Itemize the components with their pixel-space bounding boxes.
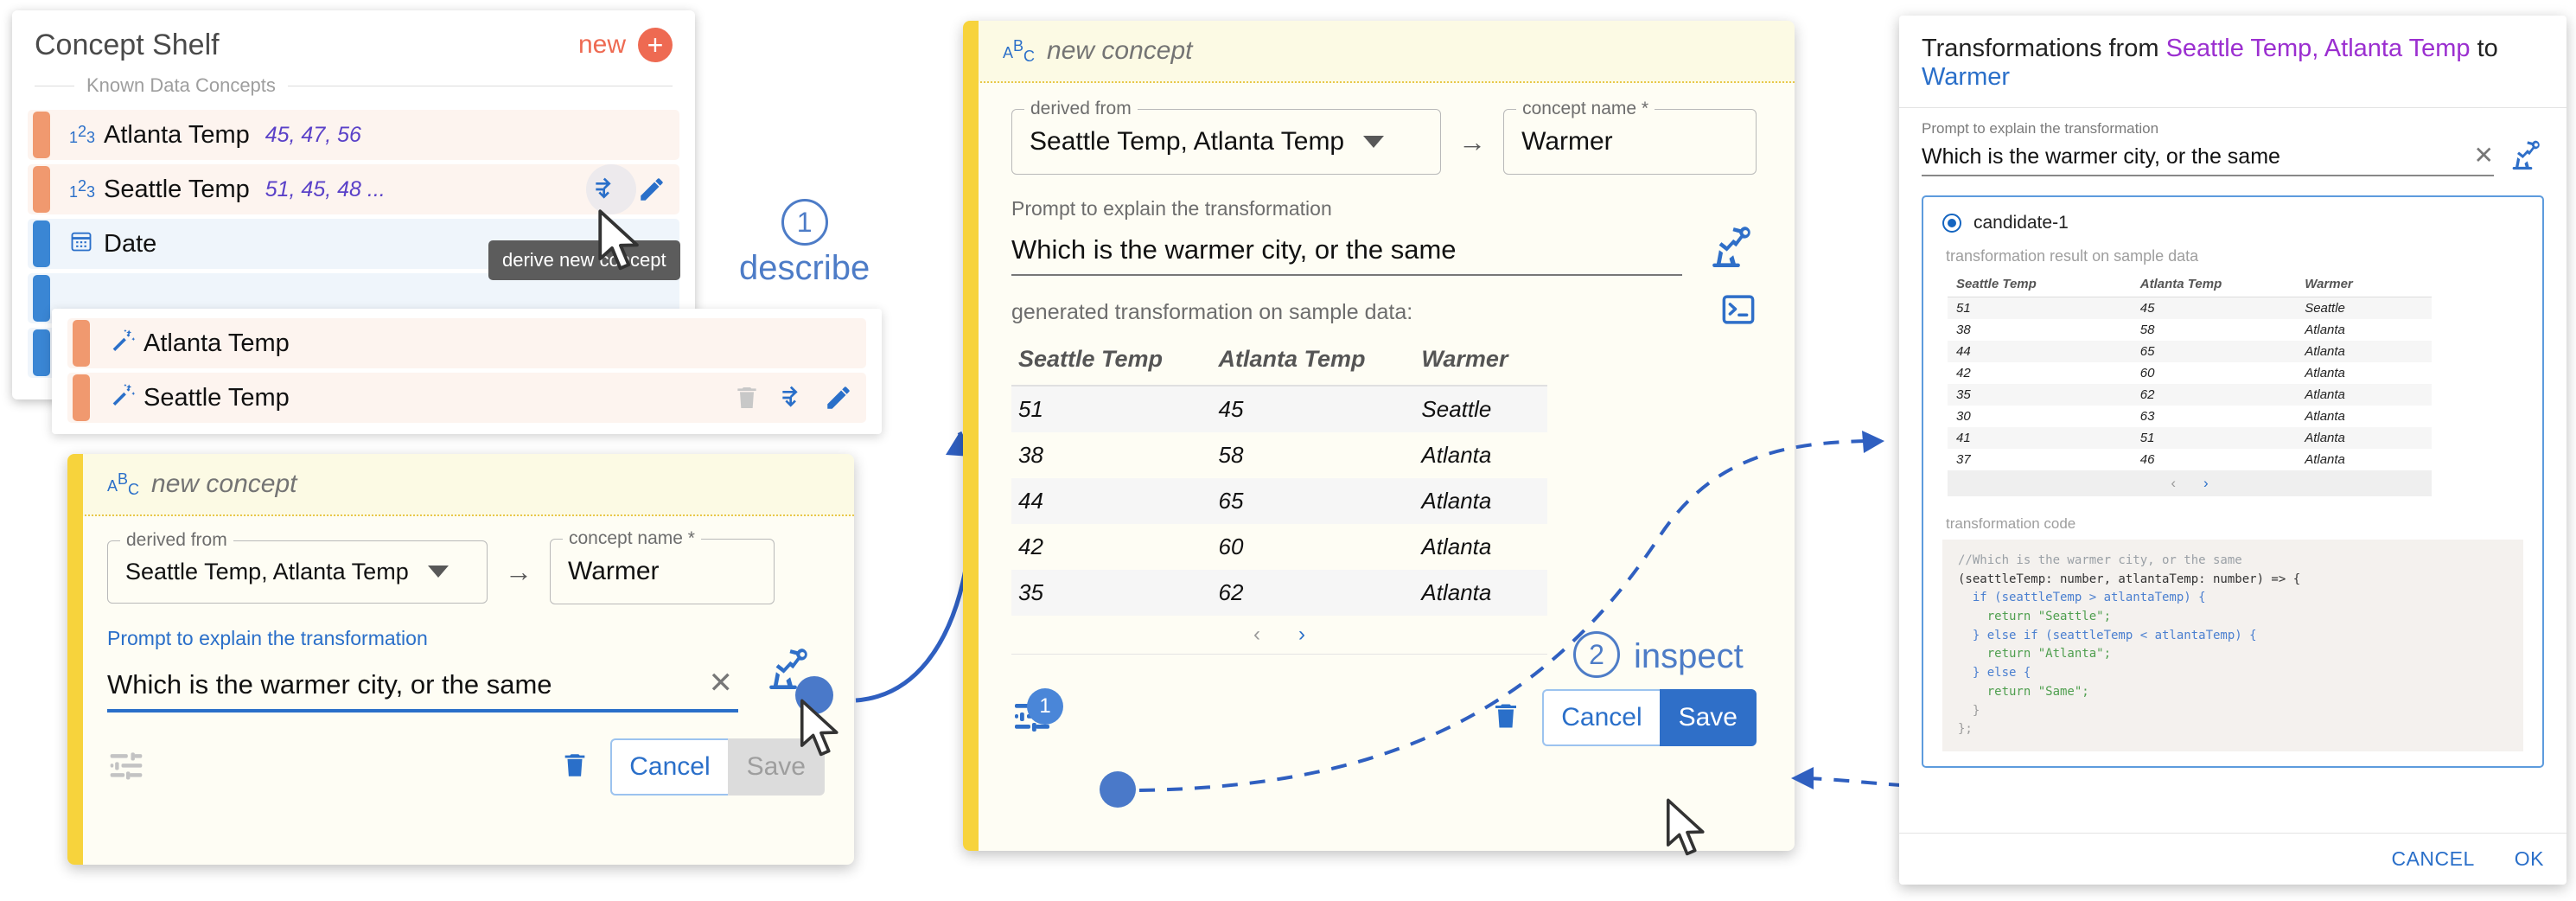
column-header: Atlanta Temp <box>1211 339 1414 386</box>
cell-atlanta-temp: 58 <box>1211 432 1414 478</box>
card-accent-bar <box>963 21 979 851</box>
code-line: (seattleTemp: number, atlantaTemp: numbe… <box>1958 572 2300 586</box>
candidate-panel: candidate-1 transformation result on sam… <box>1922 195 2544 768</box>
cancel-button[interactable]: Cancel <box>1542 689 1659 746</box>
cell-warmer: Atlanta <box>1414 478 1547 524</box>
chevron-down-icon[interactable] <box>1363 136 1384 148</box>
code-line: } else { <box>1958 666 2031 680</box>
derived-from-label: derived from <box>1024 99 1138 119</box>
concept-name-label: concept name * <box>563 528 701 549</box>
mouse-cursor-icon <box>593 208 650 277</box>
title-sources: Seattle Temp, Atlanta Temp <box>2166 35 2471 62</box>
column-header: Warmer <box>1414 339 1547 386</box>
dialog-body: Prompt to explain the transformation Whi… <box>1899 108 2566 833</box>
pager-next-button[interactable]: › <box>2203 475 2209 492</box>
table-row: 3858Atlanta <box>1948 319 2432 341</box>
numeric-123-icon: 123 <box>69 123 104 147</box>
concept-values: 45, 47, 56 <box>265 123 361 148</box>
title-mid: to <box>2471 35 2498 62</box>
cell-warmer: Atlanta <box>2296 427 2432 449</box>
code-line: return "Same"; <box>1958 685 2089 699</box>
new-label: new <box>578 30 626 60</box>
code-line: return "Seattle"; <box>1958 610 2111 623</box>
table-header-row: Seattle Temp Atlanta Temp Warmer <box>1011 339 1547 386</box>
cell-atlanta-temp: 46 <box>2132 449 2296 470</box>
card-header: ABC new concept <box>963 21 1795 83</box>
calendar-icon <box>69 229 104 259</box>
prompt-input[interactable]: Which is the warmer city, or the same ✕ <box>107 666 738 712</box>
trash-icon[interactable] <box>1490 700 1521 737</box>
code-line: } <box>1958 704 1980 718</box>
cell-atlanta-temp: 60 <box>2132 362 2296 384</box>
row-actions <box>733 383 866 412</box>
candidate-label: candidate-1 <box>1973 213 2069 233</box>
derived-from-value: Seattle Temp, Atlanta Temp <box>125 559 409 585</box>
table-row: 4465Atlanta <box>1011 478 1547 524</box>
row-accent-bar <box>33 220 50 267</box>
concept-name: Atlanta Temp <box>104 121 250 150</box>
robot-arm-icon[interactable] <box>2509 137 2544 176</box>
cancel-button[interactable]: Cancel <box>610 738 727 796</box>
known-data-concepts-divider: Known Data Concepts <box>12 67 695 105</box>
concept-name-field[interactable]: concept name * Warmer <box>1503 109 1757 175</box>
derived-from-field[interactable]: derived from Seattle Temp, Atlanta Temp <box>107 540 488 604</box>
cell-warmer: Atlanta <box>2296 384 2432 406</box>
concept-row-seattle-temp[interactable]: 123 Seattle Temp 51, 45, 48 ... <box>28 164 679 214</box>
concept-name-label: concept name * <box>1516 99 1655 119</box>
cell-seattle-temp: 44 <box>1011 478 1211 524</box>
new-concept-card-small: ABC new concept derived from Seattle Tem… <box>67 454 854 865</box>
magic-wand-icon <box>109 327 143 360</box>
concept-values: 51, 45, 48 ... <box>265 177 386 202</box>
action-buttons: Cancel Save <box>1542 689 1757 746</box>
annotation-step-2: 2 inspect <box>1573 631 1744 678</box>
table-pager: ‹ › <box>1948 470 2432 496</box>
new-concept-action[interactable]: new + <box>578 28 673 62</box>
close-icon[interactable]: ✕ <box>709 666 734 700</box>
row-actions <box>590 175 679 204</box>
table-row: 4151Atlanta <box>1948 427 2432 449</box>
card-title: new concept <box>151 470 296 499</box>
step-word: describe <box>739 249 870 288</box>
action-buttons: Cancel Save <box>610 738 825 796</box>
cell-seattle-temp: 38 <box>1948 319 2132 341</box>
cell-warmer: Atlanta <box>1414 432 1547 478</box>
cell-seattle-temp: 42 <box>1011 524 1211 570</box>
row-accent-bar <box>33 112 50 158</box>
concept-name-field[interactable]: concept name * Warmer <box>550 539 775 604</box>
arrow-right-icon: → <box>1458 126 1486 158</box>
cell-seattle-temp: 35 <box>1948 384 2132 406</box>
pager-prev-button[interactable]: ‹ <box>2171 475 2176 492</box>
arrow-right-icon: → <box>505 556 532 588</box>
code-line: }; <box>1958 722 1973 736</box>
cell-atlanta-temp: 45 <box>1211 386 1414 432</box>
cell-atlanta-temp: 62 <box>1211 570 1414 616</box>
derived-concepts-overlay: Atlanta Temp Seattle Temp <box>52 309 882 434</box>
prompt-value: Which is the warmer city, or the same <box>1922 144 2462 169</box>
cell-seattle-temp: 38 <box>1011 432 1211 478</box>
title-target: Warmer <box>1922 63 2010 91</box>
cell-seattle-temp: 51 <box>1011 386 1211 432</box>
sample-data-table: Seattle Temp Atlanta Temp Warmer 5145Sea… <box>1011 339 1547 616</box>
cell-warmer: Atlanta <box>1414 524 1547 570</box>
cell-atlanta-temp: 58 <box>2132 319 2296 341</box>
candidate-header[interactable]: candidate-1 <box>1942 213 2523 233</box>
trash-icon[interactable] <box>733 383 761 412</box>
row-accent-bar <box>73 374 90 421</box>
concept-shelf-header: Concept Shelf new + <box>12 10 695 67</box>
concept-row-atlanta-temp[interactable]: 123 Atlanta Temp 45, 47, 56 <box>28 110 679 160</box>
cell-atlanta-temp: 62 <box>2132 384 2296 406</box>
screenshot-root: Concept Shelf new + Known Data Concepts … <box>0 0 2576 901</box>
ok-button[interactable]: OK <box>2515 847 2544 871</box>
concept-name: Seattle Temp <box>104 176 250 204</box>
column-header: Seattle Temp <box>1011 339 1211 386</box>
concept-name: Date <box>104 230 156 259</box>
divider-line-left <box>35 86 74 86</box>
derive-new-concept-tooltip: derive new concept <box>488 240 680 280</box>
code-line: return "Atlanta"; <box>1958 647 2111 661</box>
prompt-input[interactable]: Which is the warmer city, or the same ✕ <box>1922 141 2494 176</box>
magic-wand-icon <box>109 381 143 414</box>
derive-new-concept-icon[interactable] <box>590 176 621 203</box>
prompt-value: Which is the warmer city, or the same <box>1011 234 1682 265</box>
prompt-value: Which is the warmer city, or the same <box>107 669 700 700</box>
dialog-footer: CANCEL OK <box>1899 833 2566 885</box>
row-accent-bar <box>73 320 90 367</box>
mouse-cursor-icon-small-card <box>795 696 849 764</box>
table-row: 4260Atlanta <box>1011 524 1547 570</box>
derived-row-seattle-temp[interactable]: Seattle Temp <box>67 373 866 423</box>
radio-selected-icon[interactable] <box>1942 214 1961 233</box>
card-body: derived from Seattle Temp, Atlanta Temp … <box>67 516 854 813</box>
step-number: 1 <box>781 199 828 246</box>
cell-seattle-temp: 30 <box>1948 406 2132 427</box>
cell-seattle-temp: 42 <box>1948 362 2132 384</box>
column-header: Warmer <box>2296 274 2432 297</box>
step-number: 2 <box>1573 631 1620 678</box>
cell-warmer: Seattle <box>2296 297 2432 320</box>
trash-icon[interactable] <box>560 750 590 785</box>
cell-seattle-temp: 35 <box>1011 570 1211 616</box>
new-concept-card-main: ABC new concept derived from Seattle Tem… <box>963 21 1795 851</box>
table-header-row: Seattle Temp Atlanta Temp Warmer <box>1948 274 2432 297</box>
table-row: 3562Atlanta <box>1011 570 1547 616</box>
status-badge: 1 <box>1027 688 1063 725</box>
result-label: transformation result on sample data <box>1946 247 2523 265</box>
derived-row-atlanta-temp[interactable]: Atlanta Temp <box>67 318 866 368</box>
chevron-down-icon[interactable] <box>428 566 449 578</box>
save-button[interactable]: Save <box>1660 689 1757 746</box>
section-label: Known Data Concepts <box>86 74 276 97</box>
abc-icon: ABC <box>1003 37 1035 66</box>
row-accent-bar <box>33 166 50 213</box>
cell-warmer: Atlanta <box>2296 319 2432 341</box>
table-row: 4465Atlanta <box>1948 341 2432 362</box>
concept-name: Seattle Temp <box>143 384 290 412</box>
cell-atlanta-temp: 60 <box>1211 524 1414 570</box>
divider-line-right <box>288 86 673 86</box>
concept-name-value: Warmer <box>568 557 660 585</box>
table-row: 3746Atlanta <box>1948 449 2432 470</box>
table-row: 4260Atlanta <box>1948 362 2432 384</box>
step-word: inspect <box>1634 637 1744 676</box>
cell-atlanta-temp: 45 <box>2132 297 2296 320</box>
edit-icon[interactable] <box>823 383 854 412</box>
cell-warmer: Atlanta <box>2296 362 2432 384</box>
card-footer: Cancel Save <box>107 738 825 796</box>
derived-from-field[interactable]: derived from Seattle Temp, Atlanta Temp <box>1011 109 1441 175</box>
cell-warmer: Seattle <box>1414 386 1547 432</box>
flow-dot-2 <box>1100 771 1136 808</box>
code-line: if (seattleTemp > atlantaTemp) { <box>1958 591 2206 604</box>
card-header: ABC new concept <box>67 454 854 516</box>
cell-warmer: Atlanta <box>2296 406 2432 427</box>
annotation-step-1: 1 describe <box>739 199 870 288</box>
code-line: } else if (seattleTemp < atlantaTemp) { <box>1958 629 2257 642</box>
table-row: 3858Atlanta <box>1011 432 1547 478</box>
cell-warmer: Atlanta <box>1414 570 1547 616</box>
dialog-title: Transformations from Seattle Temp, Atlan… <box>1899 16 2566 107</box>
table-row: 5145Seattle <box>1011 386 1547 432</box>
prompt-label: Prompt to explain the transformation <box>107 627 825 650</box>
numeric-123-icon: 123 <box>69 177 104 201</box>
cell-seattle-temp: 37 <box>1948 449 2132 470</box>
cell-atlanta-temp: 65 <box>1211 478 1414 524</box>
title-prefix: Transformations from <box>1922 35 2166 62</box>
column-header: Seattle Temp <box>1948 274 2132 297</box>
derive-new-concept-icon[interactable] <box>776 384 807 412</box>
generated-label: generated transformation on sample data: <box>1011 300 1720 325</box>
column-header: Atlanta Temp <box>2132 274 2296 297</box>
terminal-icon[interactable] <box>1720 291 1757 332</box>
prompt-input[interactable]: Which is the warmer city, or the same <box>1011 234 1682 276</box>
table-row: 3562Atlanta <box>1948 384 2432 406</box>
derived-from-value: Seattle Temp, Atlanta Temp <box>1030 127 1344 157</box>
cell-warmer: Atlanta <box>2296 449 2432 470</box>
derivation-row: derived from Seattle Temp, Atlanta Temp … <box>107 539 825 604</box>
concept-name: Atlanta Temp <box>143 329 290 358</box>
card-accent-bar <box>67 454 83 865</box>
code-line: //Which is the warmer city, or the same <box>1958 553 2242 567</box>
table-pager: ‹ › <box>1011 616 1547 655</box>
table-row: 5145Seattle <box>1948 297 2432 320</box>
table-row: 3063Atlanta <box>1948 406 2432 427</box>
cell-seattle-temp: 41 <box>1948 427 2132 449</box>
cell-atlanta-temp: 51 <box>2132 427 2296 449</box>
cell-seattle-temp: 51 <box>1948 297 2132 320</box>
tune-sliders-icon[interactable] <box>107 746 145 789</box>
plus-icon[interactable]: + <box>638 28 673 62</box>
transformations-dialog: Transformations from Seattle Temp, Atlan… <box>1899 16 2566 885</box>
mouse-cursor-icon-save <box>1661 796 1715 863</box>
card-title: new concept <box>1047 36 1192 66</box>
pager-next-button[interactable]: › <box>1298 623 1305 647</box>
row-accent-bar <box>33 329 50 376</box>
close-icon[interactable]: ✕ <box>2474 141 2494 169</box>
cell-atlanta-temp: 63 <box>2132 406 2296 427</box>
transformation-code: //Which is the warmer city, or the same … <box>1942 540 2523 751</box>
result-sample-table: Seattle Temp Atlanta Temp Warmer 5145Sea… <box>1948 274 2432 470</box>
cancel-button[interactable]: CANCEL <box>2391 847 2474 871</box>
prompt-label: Prompt to explain the transformation <box>1922 120 2544 137</box>
cell-seattle-temp: 44 <box>1948 341 2132 362</box>
derivation-row: derived from Seattle Temp, Atlanta Temp … <box>1011 109 1757 175</box>
row-accent-bar <box>33 275 50 322</box>
cell-warmer: Atlanta <box>2296 341 2432 362</box>
cell-atlanta-temp: 65 <box>2132 341 2296 362</box>
concept-name-value: Warmer <box>1521 127 1613 156</box>
prompt-label: Prompt to explain the transformation <box>1011 197 1757 220</box>
code-label: transformation code <box>1946 515 2523 533</box>
robot-arm-icon[interactable] <box>1708 222 1757 275</box>
abc-icon: ABC <box>107 470 139 499</box>
card-footer: 1 Cancel Save <box>1011 689 1757 746</box>
page-title: Concept Shelf <box>35 29 220 62</box>
derived-from-label: derived from <box>120 530 233 551</box>
edit-icon[interactable] <box>636 175 667 204</box>
tune-sliders-icon[interactable]: 1 <box>1011 695 1053 741</box>
pager-prev-button[interactable]: ‹ <box>1253 623 1260 647</box>
